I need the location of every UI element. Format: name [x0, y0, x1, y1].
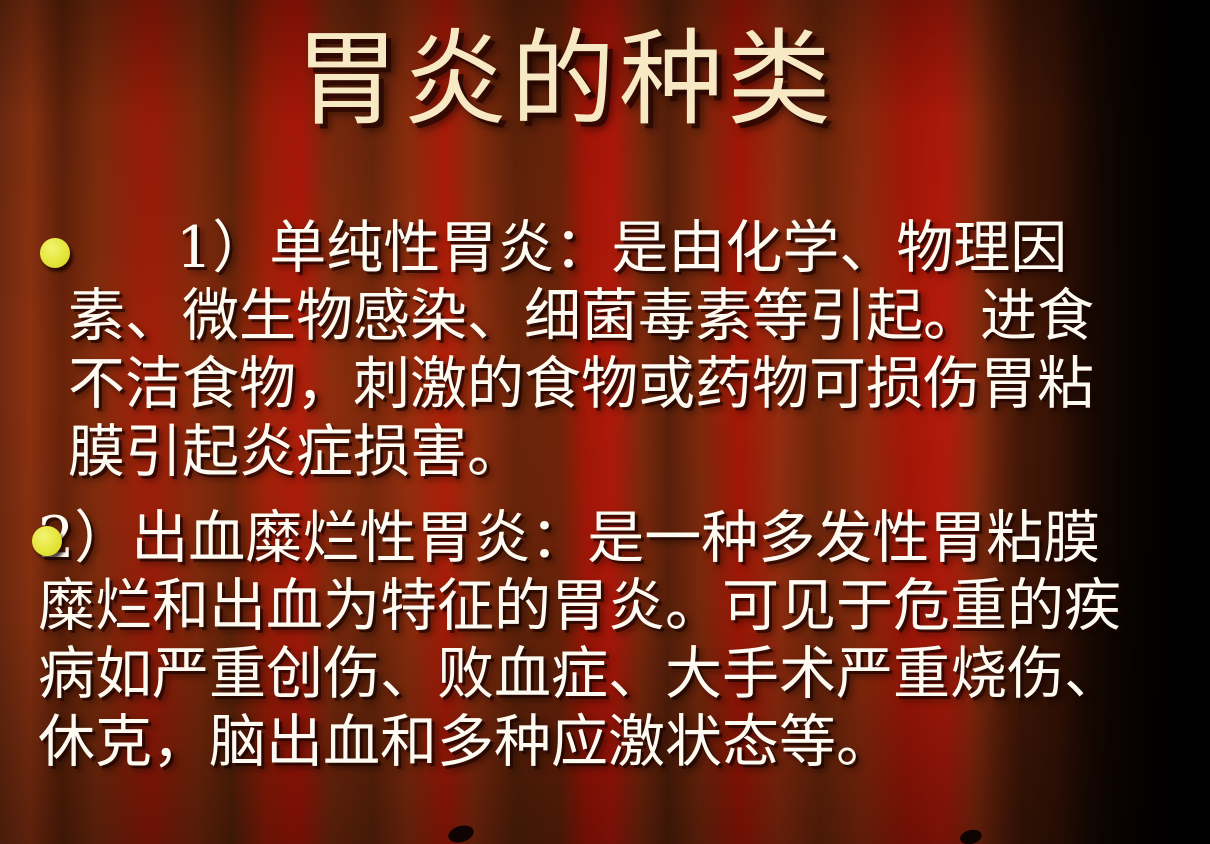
bullet-paragraph-1: 1）单纯性胃炎：是由化学、物理因素、微生物感染、细菌毒素等引起。进食不洁食物，刺…: [68, 214, 1210, 486]
slide-content: 胃炎的种类 1）单纯性胃炎：是由化学、物理因素、微生物感染、细菌毒素等引起。进食…: [0, 0, 1210, 844]
slide-title: 胃炎的种类: [0, 22, 1130, 136]
bullet-item-1: 1）单纯性胃炎：是由化学、物理因素、微生物感染、细菌毒素等引起。进食不洁食物，刺…: [0, 214, 1210, 486]
presentation-slide: 胃炎的种类 1）单纯性胃炎：是由化学、物理因素、微生物感染、细菌毒素等引起。进食…: [0, 0, 1210, 844]
bullet-dot-icon: [32, 526, 62, 556]
bullet-item-2: 2）出血糜烂性胃炎：是一种多发性胃粘膜糜烂和出血为特征的胃炎。可见于危重的疾病如…: [0, 504, 1210, 776]
slide-body: 1）单纯性胃炎：是由化学、物理因素、微生物感染、细菌毒素等引起。进食不洁食物，刺…: [0, 214, 1210, 776]
bullet-paragraph-2: 2）出血糜烂性胃炎：是一种多发性胃粘膜糜烂和出血为特征的胃炎。可见于危重的疾病如…: [38, 504, 1210, 776]
bullet-paragraph-1-text: 1）单纯性胃炎：是由化学、物理因素、微生物感染、细菌毒素等引起。进食不洁食物，刺…: [68, 215, 1094, 485]
bullet-dot-icon: [40, 238, 70, 268]
